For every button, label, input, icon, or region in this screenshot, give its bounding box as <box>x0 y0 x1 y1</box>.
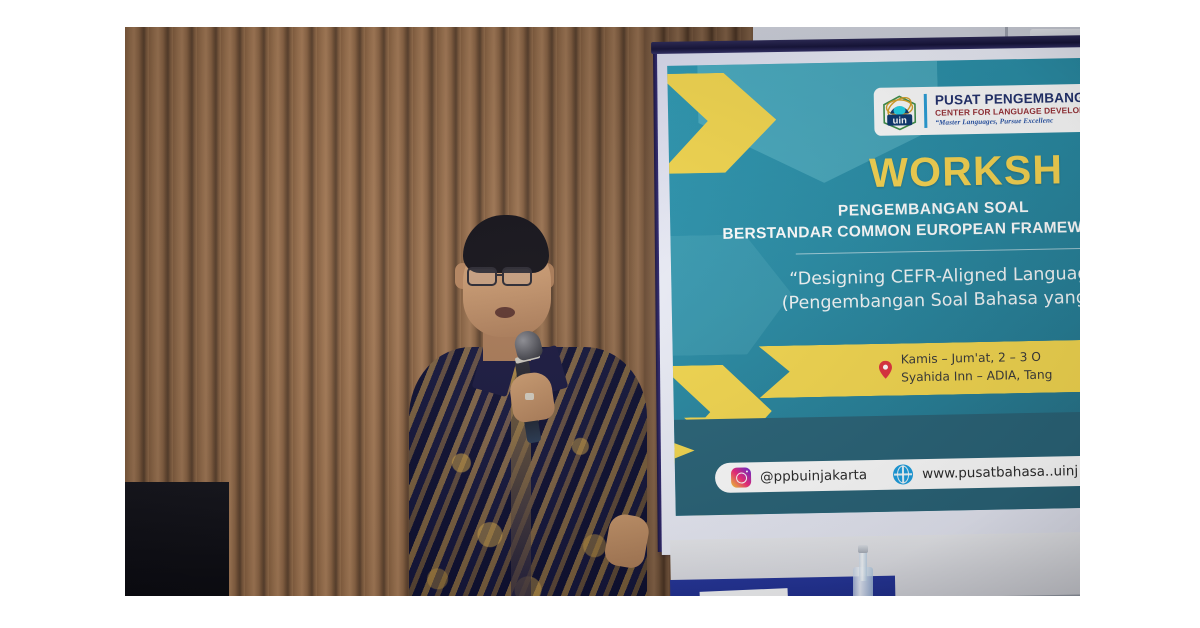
instagram-handle: @ppbuinjakarta <box>760 467 867 485</box>
event-venue: Syahida Inn – ADIA, Tang <box>901 367 1053 388</box>
globe-ring <box>897 465 909 483</box>
slide-shape-mid-teal <box>670 234 792 356</box>
slide-title: WORKSH <box>869 142 1080 197</box>
globe-icon <box>893 464 913 484</box>
date-venue-ribbon: Kamis – Jum'at, 2 – 3 O Syahida Inn – AD… <box>759 340 1080 399</box>
projector-screen: uin PUSAT PENGEMBANG CENTER FOR LANGUAGE… <box>657 42 1080 560</box>
finger-ring <box>525 393 534 400</box>
speaker-hair <box>463 215 549 273</box>
institution-logo-lockup: uin PUSAT PENGEMBANG CENTER FOR LANGUAGE… <box>874 83 1080 136</box>
covered-equipment-left <box>125 482 229 596</box>
speaker-mouth <box>495 307 515 318</box>
website-url: www.pusatbahasa..uinj <box>922 463 1078 482</box>
location-pin-icon <box>879 361 892 379</box>
slide-subtitle-line-2: BERSTANDAR COMMON EUROPEAN FRAMEWOR <box>722 217 1080 244</box>
conference-photo: uin PUSAT PENGEMBANG CENTER FOR LANGUAGE… <box>125 27 1080 596</box>
water-bottle <box>853 537 873 596</box>
svg-text:uin: uin <box>893 115 908 126</box>
bottle-cap <box>858 545 868 553</box>
eyeglasses-right-lens <box>502 267 532 286</box>
logo-divider-rule <box>924 94 928 128</box>
slide-quote-line-2: (Pengembangan Soal Bahasa yang <box>782 286 1080 314</box>
logo-text-block: PUSAT PENGEMBANG CENTER FOR LANGUAGE DEV… <box>935 91 1080 128</box>
slide-divider <box>796 248 1080 255</box>
slide-subtitle-line-1: PENGEMBANGAN SOAL <box>838 195 1080 221</box>
screenshot-canvas: uin PUSAT PENGEMBANG CENTER FOR LANGUAGE… <box>0 0 1200 628</box>
slide-quote-line-1: “Designing CEFR-Aligned Languag <box>789 262 1080 290</box>
screen-surface: uin PUSAT PENGEMBANG CENTER FOR LANGUAGE… <box>657 46 1080 555</box>
speaker-person <box>403 215 653 596</box>
uin-logo-icon: uin <box>881 92 919 131</box>
date-venue-text: Kamis – Jum'at, 2 – 3 O Syahida Inn – AD… <box>901 349 1053 387</box>
eyeglasses-left-lens <box>467 267 497 286</box>
presentation-slide: uin PUSAT PENGEMBANG CENTER FOR LANGUAGE… <box>667 58 1080 516</box>
bottle-neck <box>859 551 867 581</box>
instagram-icon <box>731 467 751 487</box>
eyeglasses-bridge <box>497 274 503 276</box>
